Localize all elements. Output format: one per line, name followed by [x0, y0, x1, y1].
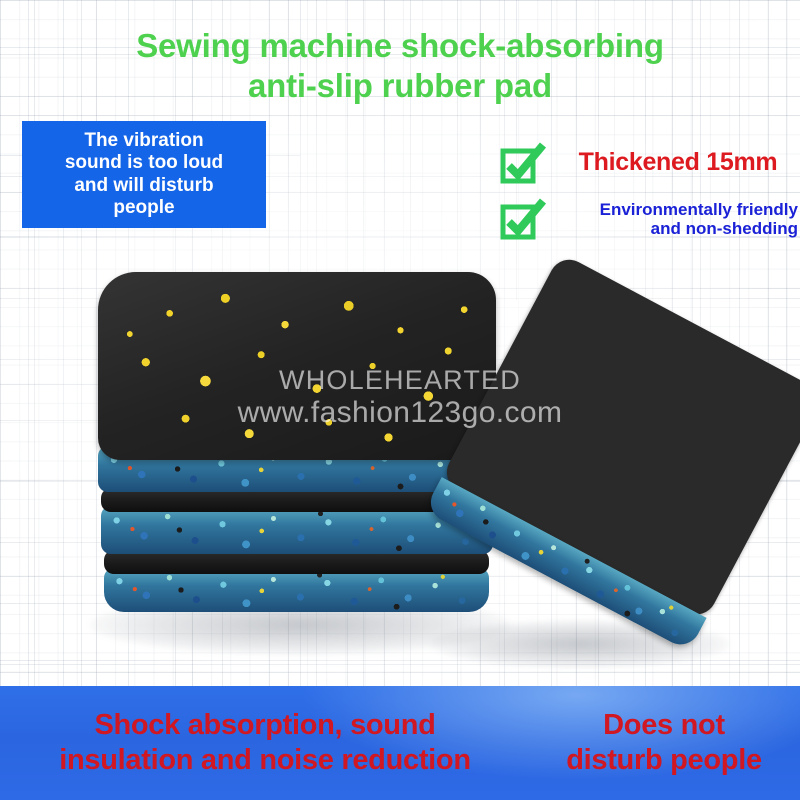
- product-poster: Sewing machine shock-absorbing anti-slip…: [0, 0, 800, 800]
- product-photo: [0, 250, 800, 680]
- feature-thickness-line-1: Thickened 15mm: [556, 149, 800, 177]
- callout-line-1: The vibration: [65, 130, 223, 152]
- banner-right-line-2: disturb people: [530, 743, 798, 778]
- problem-callout-text: The vibration sound is too loud and will…: [59, 130, 229, 219]
- feature-eco-line-2: and non-shedding: [556, 219, 798, 238]
- banner-right-line-1: Does not: [530, 708, 798, 743]
- banner-left-line-2: insulation and noise reduction: [0, 743, 530, 778]
- feature-item-eco: Environmentally friendly and non-sheddin…: [500, 198, 800, 240]
- banner-benefit-right: Does not disturb people: [530, 708, 800, 779]
- poster-title: Sewing machine shock-absorbing anti-slip…: [0, 26, 800, 107]
- feature-eco-line-1: Environmentally friendly: [556, 200, 798, 219]
- pad-top-face-stack: [98, 272, 496, 460]
- bottom-benefit-banner: Shock absorption, sound insulation and n…: [0, 686, 800, 800]
- callout-line-2: sound is too loud: [65, 152, 223, 174]
- banner-left-line-1: Shock absorption, sound: [0, 708, 530, 743]
- feature-label-eco: Environmentally friendly and non-sheddin…: [556, 200, 800, 238]
- check-box-icon: [500, 198, 546, 240]
- title-line-2: anti-slip rubber pad: [0, 66, 800, 106]
- check-box-icon: [500, 142, 546, 184]
- callout-line-3: and will disturb: [65, 175, 223, 197]
- feature-item-thickness: Thickened 15mm: [500, 142, 800, 184]
- banner-benefit-left: Shock absorption, sound insulation and n…: [0, 708, 530, 779]
- problem-callout-box: The vibration sound is too loud and will…: [22, 121, 266, 228]
- pad-layer-bottom-edge: [104, 568, 489, 612]
- title-line-1: Sewing machine shock-absorbing: [0, 26, 800, 66]
- callout-line-4: people: [65, 197, 223, 219]
- feature-label-thickness: Thickened 15mm: [556, 149, 800, 177]
- feature-list: Thickened 15mm Environmentally friendly …: [500, 142, 800, 254]
